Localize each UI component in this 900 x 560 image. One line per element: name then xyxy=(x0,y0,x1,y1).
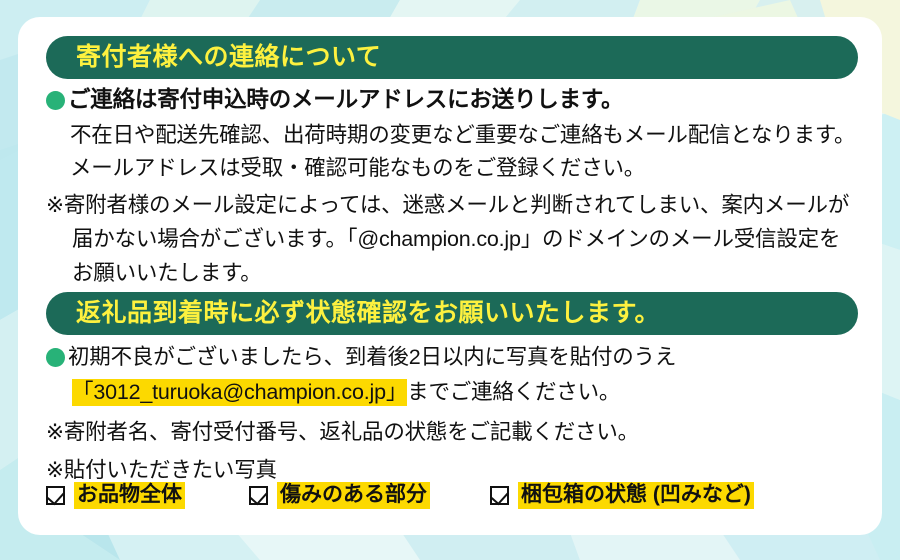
photo-checklist: お品物全体 傷みのある部分 梱包箱の状態 (凹みなど) xyxy=(46,482,862,509)
email-suffix-text: までご連絡ください。 xyxy=(407,380,620,404)
checklist-item-package-condition-label: 梱包箱の状態 (凹みなど) xyxy=(518,482,754,509)
arrival-note-1: ※寄附者名、寄付受付番号、返礼品の状態をご記載ください。 xyxy=(46,422,862,444)
section-heading-arrival: 返礼品到着時に必ず状態確認をお願いいたします。 xyxy=(46,292,858,335)
contact-note-line-2-suffix: 」のドメインのメール受信設定を xyxy=(521,227,841,251)
arrival-note-2-text: ※貼付いただきたい写真 xyxy=(46,460,862,482)
checkbox-checked-icon[interactable] xyxy=(490,486,509,505)
arrival-note-2: ※貼付いただきたい写真 xyxy=(46,460,862,482)
checkbox-checked-icon[interactable] xyxy=(46,486,65,505)
contact-note-line-1-text: ※寄附者様のメール設定によっては、迷惑メールと判断されてしまい、案内メールが xyxy=(46,195,862,217)
contact-subline-2-text: メールアドレスは受取・確認可能なものをご登録ください。 xyxy=(46,158,862,180)
arrival-note-1-text: ※寄附者名、寄付受付番号、返礼品の状態をご記載ください。 xyxy=(46,422,862,444)
contact-subline-1-text: 不在日や配送先確認、出荷時期の変更など重要なご連絡もメール配信となります。 xyxy=(46,125,862,147)
email-open-bracket: 「 xyxy=(72,379,93,406)
checklist-item-whole-item[interactable]: お品物全体 xyxy=(46,482,185,509)
contact-note-line-3-text: お願いいたします。 xyxy=(46,263,862,285)
checklist-item-package-condition[interactable]: 梱包箱の状態 (凹みなど) xyxy=(490,482,754,509)
green-bullet-icon xyxy=(46,91,65,110)
section-heading-arrival-label: 返礼品到着時に必ず状態確認をお願いいたします。 xyxy=(46,301,660,326)
contact-bullet-text: ご連絡は寄付申込時のメールアドレスにお送りします。 xyxy=(68,89,623,112)
contact-note-line-2-prefix: 届かない場合がございます。「 xyxy=(72,227,357,251)
notice-card: 寄付者様への連絡について ご連絡は寄付申込時のメールアドレスにお送りします。 不… xyxy=(18,17,882,535)
checklist-item-damaged-area[interactable]: 傷みのある部分 xyxy=(249,482,430,509)
section-heading-contact-label: 寄付者様への連絡について xyxy=(46,45,381,70)
arrival-email-row: 「3012_turuoka@champion.co.jp」までご連絡ください。 xyxy=(46,382,862,404)
contact-subline-1: 不在日や配送先確認、出荷時期の変更など重要なご連絡もメール配信となります。 xyxy=(46,125,862,147)
green-bullet-icon xyxy=(46,348,65,367)
checklist-item-damaged-area-label: 傷みのある部分 xyxy=(277,482,430,509)
contact-note-line-1: ※寄附者様のメール設定によっては、迷惑メールと判断されてしまい、案内メールが xyxy=(46,195,862,217)
contact-note-line-3: お願いいたします。 xyxy=(46,263,862,285)
contact-bullet-row: ご連絡は寄付申込時のメールアドレスにお送りします。 xyxy=(46,89,862,112)
checklist-item-whole-item-label: お品物全体 xyxy=(74,482,185,509)
arrival-bullet-row: 初期不良がございましたら、到着後2日以内に写真を貼付のうえ xyxy=(46,347,862,369)
email-close-bracket: 」 xyxy=(386,379,407,406)
contact-subline-2: メールアドレスは受取・確認可能なものをご登録ください。 xyxy=(46,158,862,180)
contact-email-address[interactable]: 3012_turuoka@champion.co.jp xyxy=(93,379,386,406)
section-heading-contact: 寄付者様への連絡について xyxy=(46,36,858,79)
checkbox-checked-icon[interactable] xyxy=(249,486,268,505)
contact-note-domain: @champion.co.jp xyxy=(357,227,520,251)
arrival-bullet-text: 初期不良がございましたら、到着後2日以内に写真を貼付のうえ xyxy=(68,347,676,369)
contact-note-line-2: 届かない場合がございます。「@champion.co.jp」のドメインのメール受… xyxy=(46,229,862,251)
